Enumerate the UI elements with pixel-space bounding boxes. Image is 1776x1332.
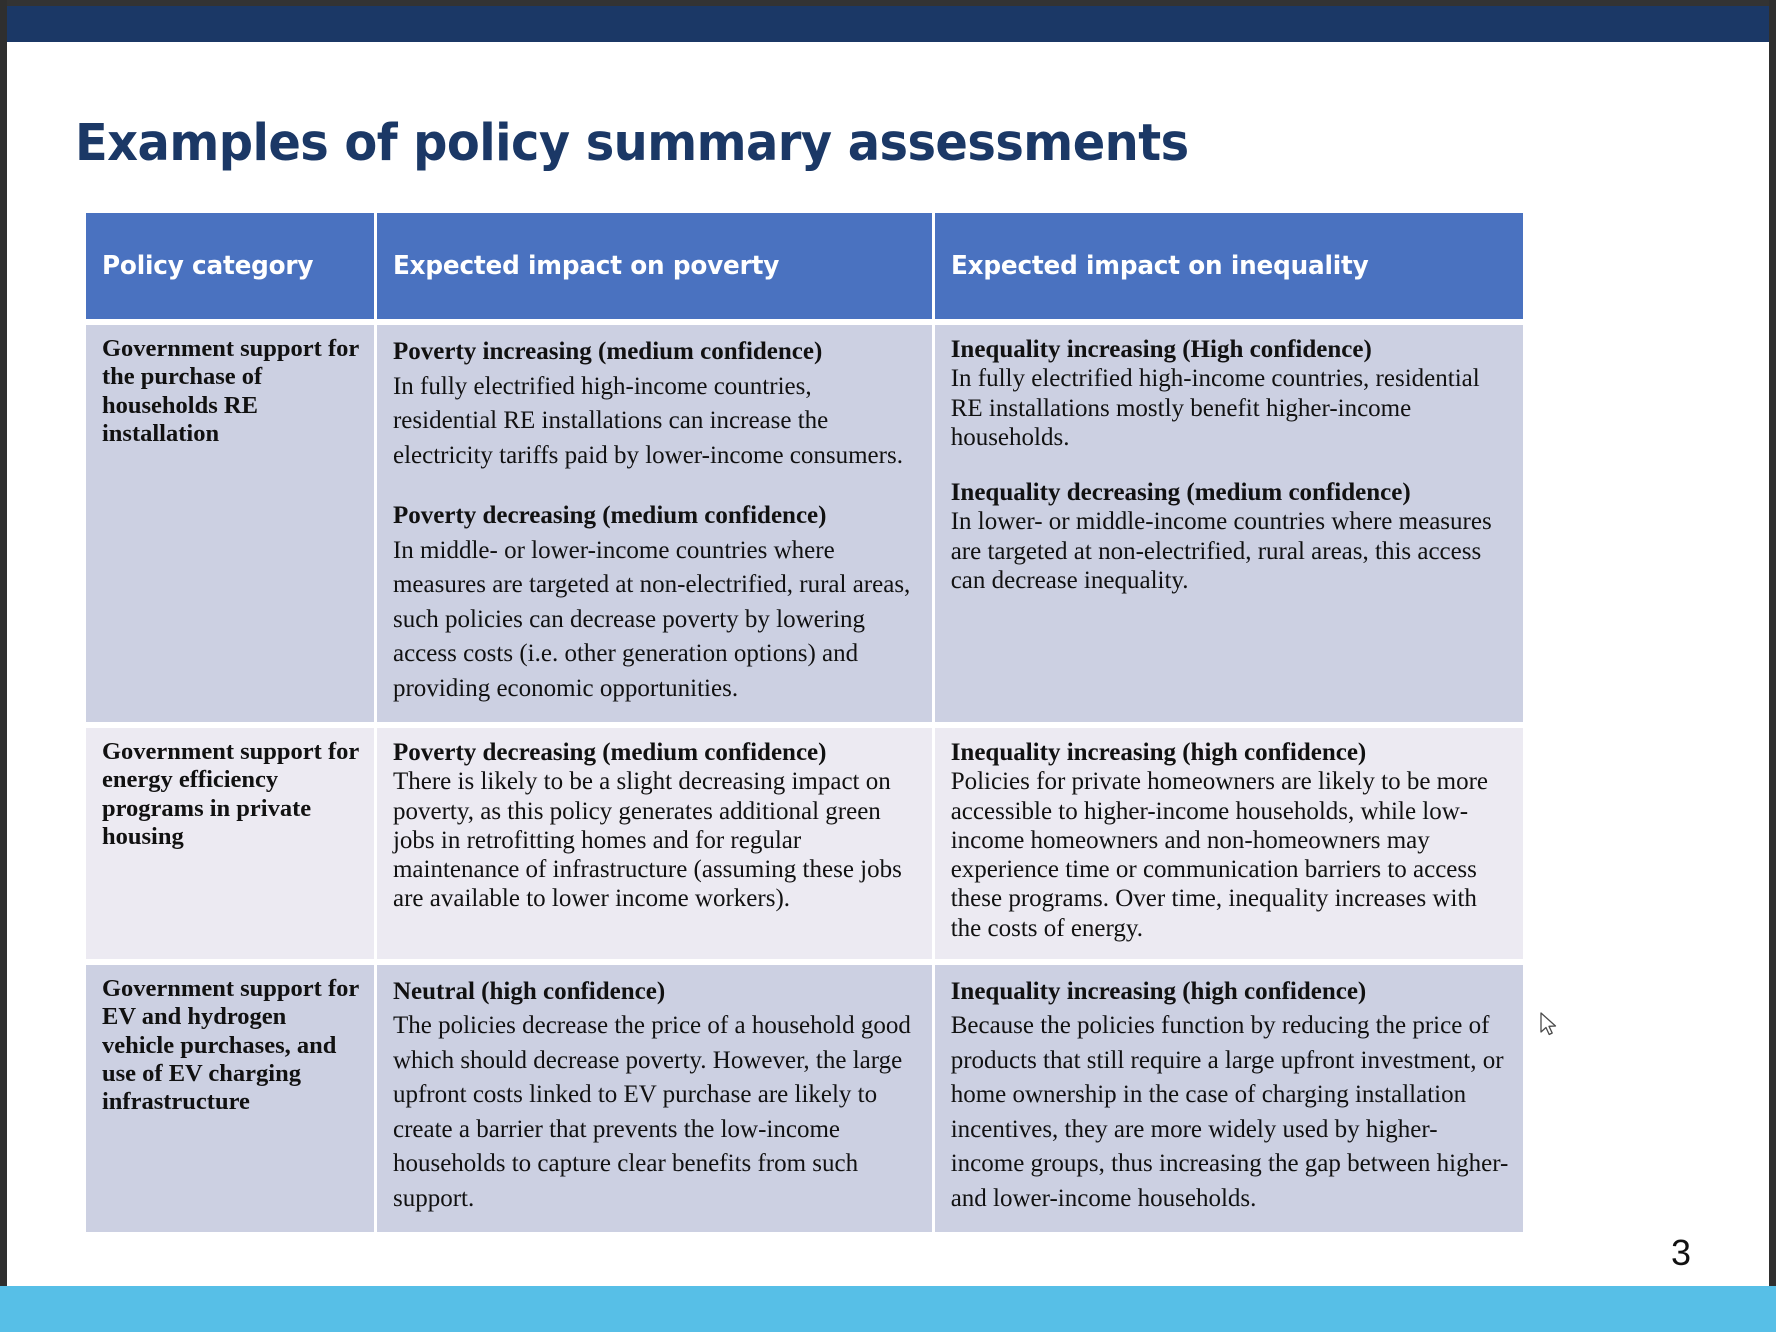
- assessment-heading: Poverty decreasing (medium confidence): [393, 739, 826, 766]
- assessment-block: Poverty increasing (medium confidence) I…: [393, 335, 918, 473]
- assessment-body: In fully electrified high-income countri…: [393, 373, 903, 469]
- cell-policy-category: Government support for energy efficiency…: [86, 722, 377, 959]
- assessment-block: Poverty decreasing (medium confidence) I…: [393, 499, 918, 706]
- policy-category-text: Government support for energy efficiency…: [102, 738, 360, 852]
- assessment-heading: Neutral (high confidence): [393, 978, 665, 1005]
- presentation-screen: Examples of policy summary assessments P…: [0, 0, 1776, 1332]
- column-header-policy-category: Policy category: [86, 213, 377, 319]
- window-right-edge: [1769, 0, 1776, 1332]
- impact-inequality-text: Inequality increasing (High confidence) …: [951, 335, 1509, 595]
- assessment-block: Poverty decreasing (medium confidence) T…: [393, 738, 918, 914]
- slide-canvas: Examples of policy summary assessments P…: [7, 42, 1769, 1332]
- cell-policy-category: Government support for EV and hydrogen v…: [86, 959, 377, 1233]
- impact-inequality-text: Inequality increasing (high confidence) …: [951, 738, 1509, 943]
- cell-impact-inequality: Inequality increasing (high confidence) …: [935, 722, 1523, 959]
- assessment-body: Because the policies function by reducin…: [951, 1012, 1509, 1212]
- table-row: Government support for the purchase of h…: [86, 319, 1523, 722]
- cell-impact-poverty: Poverty decreasing (medium confidence) T…: [377, 722, 935, 959]
- column-header-impact-inequality-label: Expected impact on inequality: [951, 251, 1369, 281]
- column-header-impact-poverty: Expected impact on poverty: [377, 213, 935, 319]
- impact-poverty-text: Poverty increasing (medium confidence) I…: [393, 335, 918, 706]
- assessment-body: There is likely to be a slight decreasin…: [393, 768, 902, 912]
- impact-poverty-text: Poverty decreasing (medium confidence) T…: [393, 738, 918, 914]
- assessment-body: Policies for private homeowners are like…: [951, 768, 1488, 941]
- cell-impact-poverty: Poverty increasing (medium confidence) I…: [377, 319, 935, 722]
- policy-summary-table: Policy category Expected impact on pover…: [86, 213, 1523, 1232]
- cell-impact-inequality: Inequality increasing (high confidence) …: [935, 959, 1523, 1233]
- assessment-heading: Poverty decreasing (medium confidence): [393, 502, 826, 529]
- app-top-bar: [0, 6, 1776, 42]
- impact-poverty-text: Neutral (high confidence) The policies d…: [393, 975, 918, 1217]
- impact-inequality-text: Inequality increasing (high confidence) …: [951, 975, 1509, 1217]
- cell-impact-poverty: Neutral (high confidence) The policies d…: [377, 959, 935, 1233]
- table-row: Government support for EV and hydrogen v…: [86, 959, 1523, 1233]
- assessment-heading: Inequality increasing (High confidence): [951, 336, 1372, 363]
- assessment-block: Inequality increasing (high confidence) …: [951, 975, 1509, 1217]
- column-header-policy-category-label: Policy category: [102, 251, 313, 281]
- cell-policy-category: Government support for the purchase of h…: [86, 319, 377, 722]
- assessment-heading: Inequality increasing (high confidence): [951, 978, 1367, 1005]
- assessment-block: Inequality increasing (high confidence) …: [951, 738, 1509, 943]
- slide-footer-bar: [0, 1286, 1776, 1332]
- policy-category-text: Government support for the purchase of h…: [102, 335, 360, 449]
- assessment-heading: Inequality decreasing (medium confidence…: [951, 479, 1411, 506]
- assessment-body: In middle- or lower-income countries whe…: [393, 537, 910, 702]
- assessment-block: Inequality decreasing (medium confidence…: [951, 478, 1509, 595]
- cell-impact-inequality: Inequality increasing (High confidence) …: [935, 319, 1523, 722]
- assessment-body: In lower- or middle-income countries whe…: [951, 508, 1492, 594]
- page-number: 3: [1671, 1232, 1691, 1274]
- policy-category-text: Government support for EV and hydrogen v…: [102, 975, 360, 1117]
- assessment-block: Neutral (high confidence) The policies d…: [393, 975, 918, 1217]
- table-header-row: Policy category Expected impact on pover…: [86, 213, 1523, 319]
- table-row: Government support for energy efficiency…: [86, 722, 1523, 959]
- assessment-body: The policies decrease the price of a hou…: [393, 1012, 911, 1212]
- assessment-body: In fully electrified high-income countri…: [951, 365, 1480, 451]
- assessment-heading: Inequality increasing (high confidence): [951, 739, 1367, 766]
- assessment-heading: Poverty increasing (medium confidence): [393, 338, 822, 365]
- column-header-impact-inequality: Expected impact on inequality: [935, 213, 1523, 319]
- window-left-edge: [0, 0, 7, 1332]
- column-header-impact-poverty-label: Expected impact on poverty: [393, 251, 779, 281]
- assessment-block: Inequality increasing (High confidence) …: [951, 335, 1509, 452]
- page-title: Examples of policy summary assessments: [75, 114, 1189, 173]
